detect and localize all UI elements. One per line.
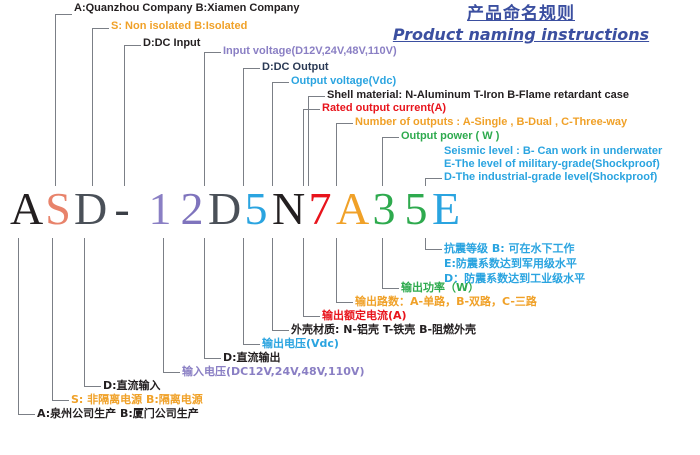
leader-vline-isolation-cn <box>52 238 53 400</box>
code-char-13: E <box>430 186 462 232</box>
leader-hline-company <box>55 14 72 15</box>
label-output-voltage: Output voltage(Vdc) <box>291 75 396 88</box>
label-dc-output: D:DC Output <box>262 61 329 74</box>
leader-vline-input-voltage-cn <box>163 238 164 372</box>
code-char-5: 2 <box>176 186 208 232</box>
product-code: ASD-12D5N7A35E <box>8 186 468 238</box>
code-char-9: 7 <box>304 186 336 232</box>
label-dc-input-cn: D:直流输入 <box>103 379 161 392</box>
leader-hline-num-outputs <box>336 123 353 124</box>
code-char-12: 5 <box>400 186 432 232</box>
label-dc-input: D:DC Input <box>143 37 200 50</box>
leader-vline-output-power <box>382 137 383 186</box>
naming-rule-diagram: 产品命名规则 Product naming instructions A:Qua… <box>0 0 700 455</box>
code-char-11: 3 <box>368 186 400 232</box>
code-char-0: A <box>10 186 42 232</box>
label-output-power-cn: 输出功率（W） <box>401 281 479 294</box>
code-char-6: D <box>208 186 240 232</box>
leader-vline-shell-cn <box>272 238 273 330</box>
leader-vline-rated-current <box>303 109 304 186</box>
label-isolation-cn: S: 非隔离电源 B:隔离电源 <box>71 393 203 406</box>
code-char-8: N <box>272 186 304 232</box>
leader-hline-input-voltage <box>204 52 221 53</box>
leader-hline-output-voltage <box>272 82 289 83</box>
leader-vline-dc-input <box>124 45 125 186</box>
label-rated-current: Rated output current(A) <box>322 102 446 115</box>
label-seismic-1: Seismic level : B- Can work in underwate… <box>444 145 662 158</box>
leader-hline-company-cn <box>18 414 35 415</box>
leader-vline-output-voltage-cn <box>243 238 244 344</box>
label-seismic-3: D-The industrial-grade level(Shockproof) <box>444 171 657 184</box>
label-input-voltage: Input voltage(D12V,24V,48V,110V) <box>223 45 397 58</box>
leader-vline-company <box>55 14 56 186</box>
label-isolation: S: Non isolated B:Isolated <box>111 20 247 33</box>
label-company-cn: A:泉州公司生产 B:厦门公司生产 <box>37 407 199 420</box>
leader-vline-dc-output-cn <box>204 238 205 358</box>
leader-vline-seismic-cn <box>425 238 426 249</box>
code-char-3: - <box>106 186 138 232</box>
label-dc-output-cn: D:直流输出 <box>223 351 281 364</box>
leader-hline-dc-output <box>243 68 260 69</box>
label-num-outputs: Number of outputs : A-Single , B-Dual , … <box>355 116 627 129</box>
leader-hline-seismic <box>425 178 442 179</box>
leader-hline-isolation-cn <box>52 400 69 401</box>
label-shell-material-cn: 外壳材质: N-铝壳 T-铁壳 B-阻燃外壳 <box>291 323 476 336</box>
label-num-outputs-cn: 输出路数：A-单路，B-双路，C-三路 <box>355 295 537 308</box>
code-char-1: S <box>42 186 74 232</box>
leader-hline-dc-output-cn <box>204 358 221 359</box>
leader-vline-num-outputs-cn <box>336 238 337 302</box>
leader-hline-rated-current-cn <box>303 316 320 317</box>
leader-hline-dc-input <box>124 45 141 46</box>
leader-vline-num-outputs <box>336 123 337 186</box>
leader-vline-dc-input-cn <box>84 238 85 386</box>
page-title-cn: 产品命名规则 <box>356 4 686 24</box>
leader-vline-company-cn <box>18 238 19 414</box>
code-char-2: D <box>74 186 106 232</box>
label-output-voltage-cn: 输出电压(Vdc) <box>262 337 339 350</box>
leader-hline-shell <box>308 96 325 97</box>
page-title-en: Product naming instructions <box>356 24 686 46</box>
leader-hline-input-voltage-cn <box>163 372 180 373</box>
code-char-7: 5 <box>240 186 272 232</box>
label-company: A:Quanzhou Company B:Xiamen Company <box>74 2 300 15</box>
leader-vline-rated-current-cn <box>303 238 304 316</box>
leader-vline-output-voltage <box>272 82 273 186</box>
leader-hline-output-power <box>382 137 399 138</box>
leader-hline-rated-current <box>303 109 320 110</box>
code-char-10: A <box>336 186 368 232</box>
label-shell-material: Shell material: N-Aluminum T-Iron B-Flam… <box>327 89 629 102</box>
label-seismic-2: E-The level of military-grade(Shockproof… <box>444 158 660 171</box>
leader-vline-output-power-cn <box>382 238 383 288</box>
leader-vline-input-voltage <box>204 52 205 186</box>
title-block: 产品命名规则 Product naming instructions <box>356 4 686 46</box>
label-rated-current-cn: 输出额定电流(A) <box>322 309 407 322</box>
label-output-power: Output power ( W ) <box>401 130 499 143</box>
leader-hline-shell-cn <box>272 330 289 331</box>
label-seismic-cn-2: E:防震系数达到军用级水平 <box>444 257 577 270</box>
leader-vline-dc-output <box>243 68 244 186</box>
leader-hline-seismic-cn <box>425 249 442 250</box>
leader-vline-isolation <box>92 28 93 186</box>
label-input-voltage-cn: 输入电压(DC12V,24V,48V,110V) <box>182 365 364 378</box>
leader-hline-isolation <box>92 28 109 29</box>
leader-hline-num-outputs-cn <box>336 302 353 303</box>
code-char-4: 1 <box>144 186 176 232</box>
label-seismic-cn-1: 抗震等级 B: 可在水下工作 <box>444 242 574 255</box>
leader-hline-output-voltage-cn <box>243 344 260 345</box>
leader-hline-output-power-cn <box>382 288 399 289</box>
leader-hline-dc-input-cn <box>84 386 101 387</box>
